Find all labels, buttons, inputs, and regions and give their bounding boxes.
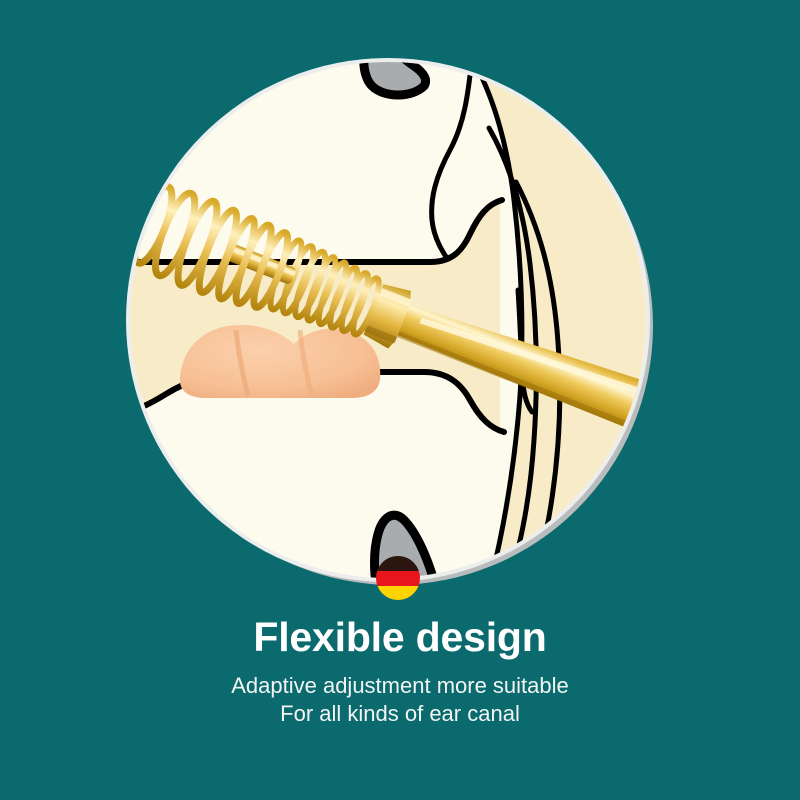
germany-flag-badge	[376, 556, 420, 601]
illustration-canvas	[0, 0, 800, 800]
product-feature-poster: Flexible design Adaptive adjustment more…	[0, 0, 800, 800]
circle-contents	[105, 28, 692, 614]
earwax-deposit	[180, 325, 380, 398]
